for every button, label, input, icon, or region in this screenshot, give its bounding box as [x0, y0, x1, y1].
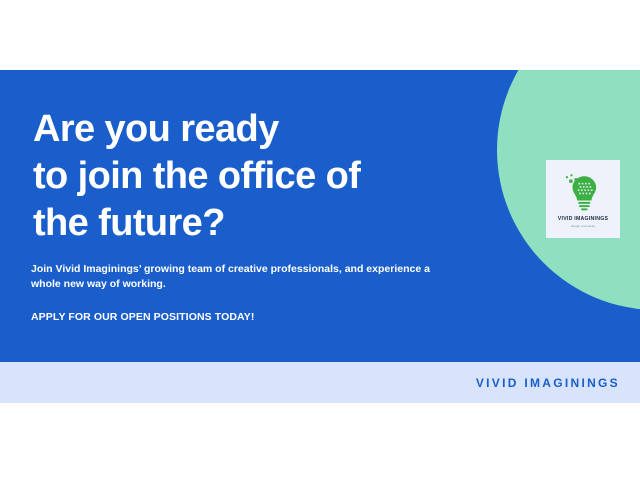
cta-text[interactable]: APPLY FOR OUR OPEN POSITIONS TODAY! [31, 311, 254, 323]
logo-card: VIVID IMAGININGS design and ideas [546, 160, 620, 238]
headline-line-1: Are you ready [33, 106, 463, 153]
headline-line-3: the future? [33, 200, 463, 247]
blue-hero-panel: Are you ready to join the office of the … [0, 70, 640, 362]
footer-wordmark: VIVID IMAGININGS [476, 376, 620, 390]
bottom-white-area [0, 403, 640, 480]
logo-tagline: design and ideas [571, 224, 595, 228]
recruitment-banner: Are you ready to join the office of the … [0, 0, 640, 480]
headline: Are you ready to join the office of the … [33, 106, 463, 247]
logo-brand-name: VIVID IMAGININGS [558, 216, 608, 222]
headline-line-2: to join the office of [33, 153, 463, 200]
body-copy: Join Vivid Imaginings’ growing team of c… [31, 262, 456, 292]
pixelated-lightbulb-icon [562, 171, 604, 213]
footer-band: VIVID IMAGININGS [0, 362, 640, 403]
